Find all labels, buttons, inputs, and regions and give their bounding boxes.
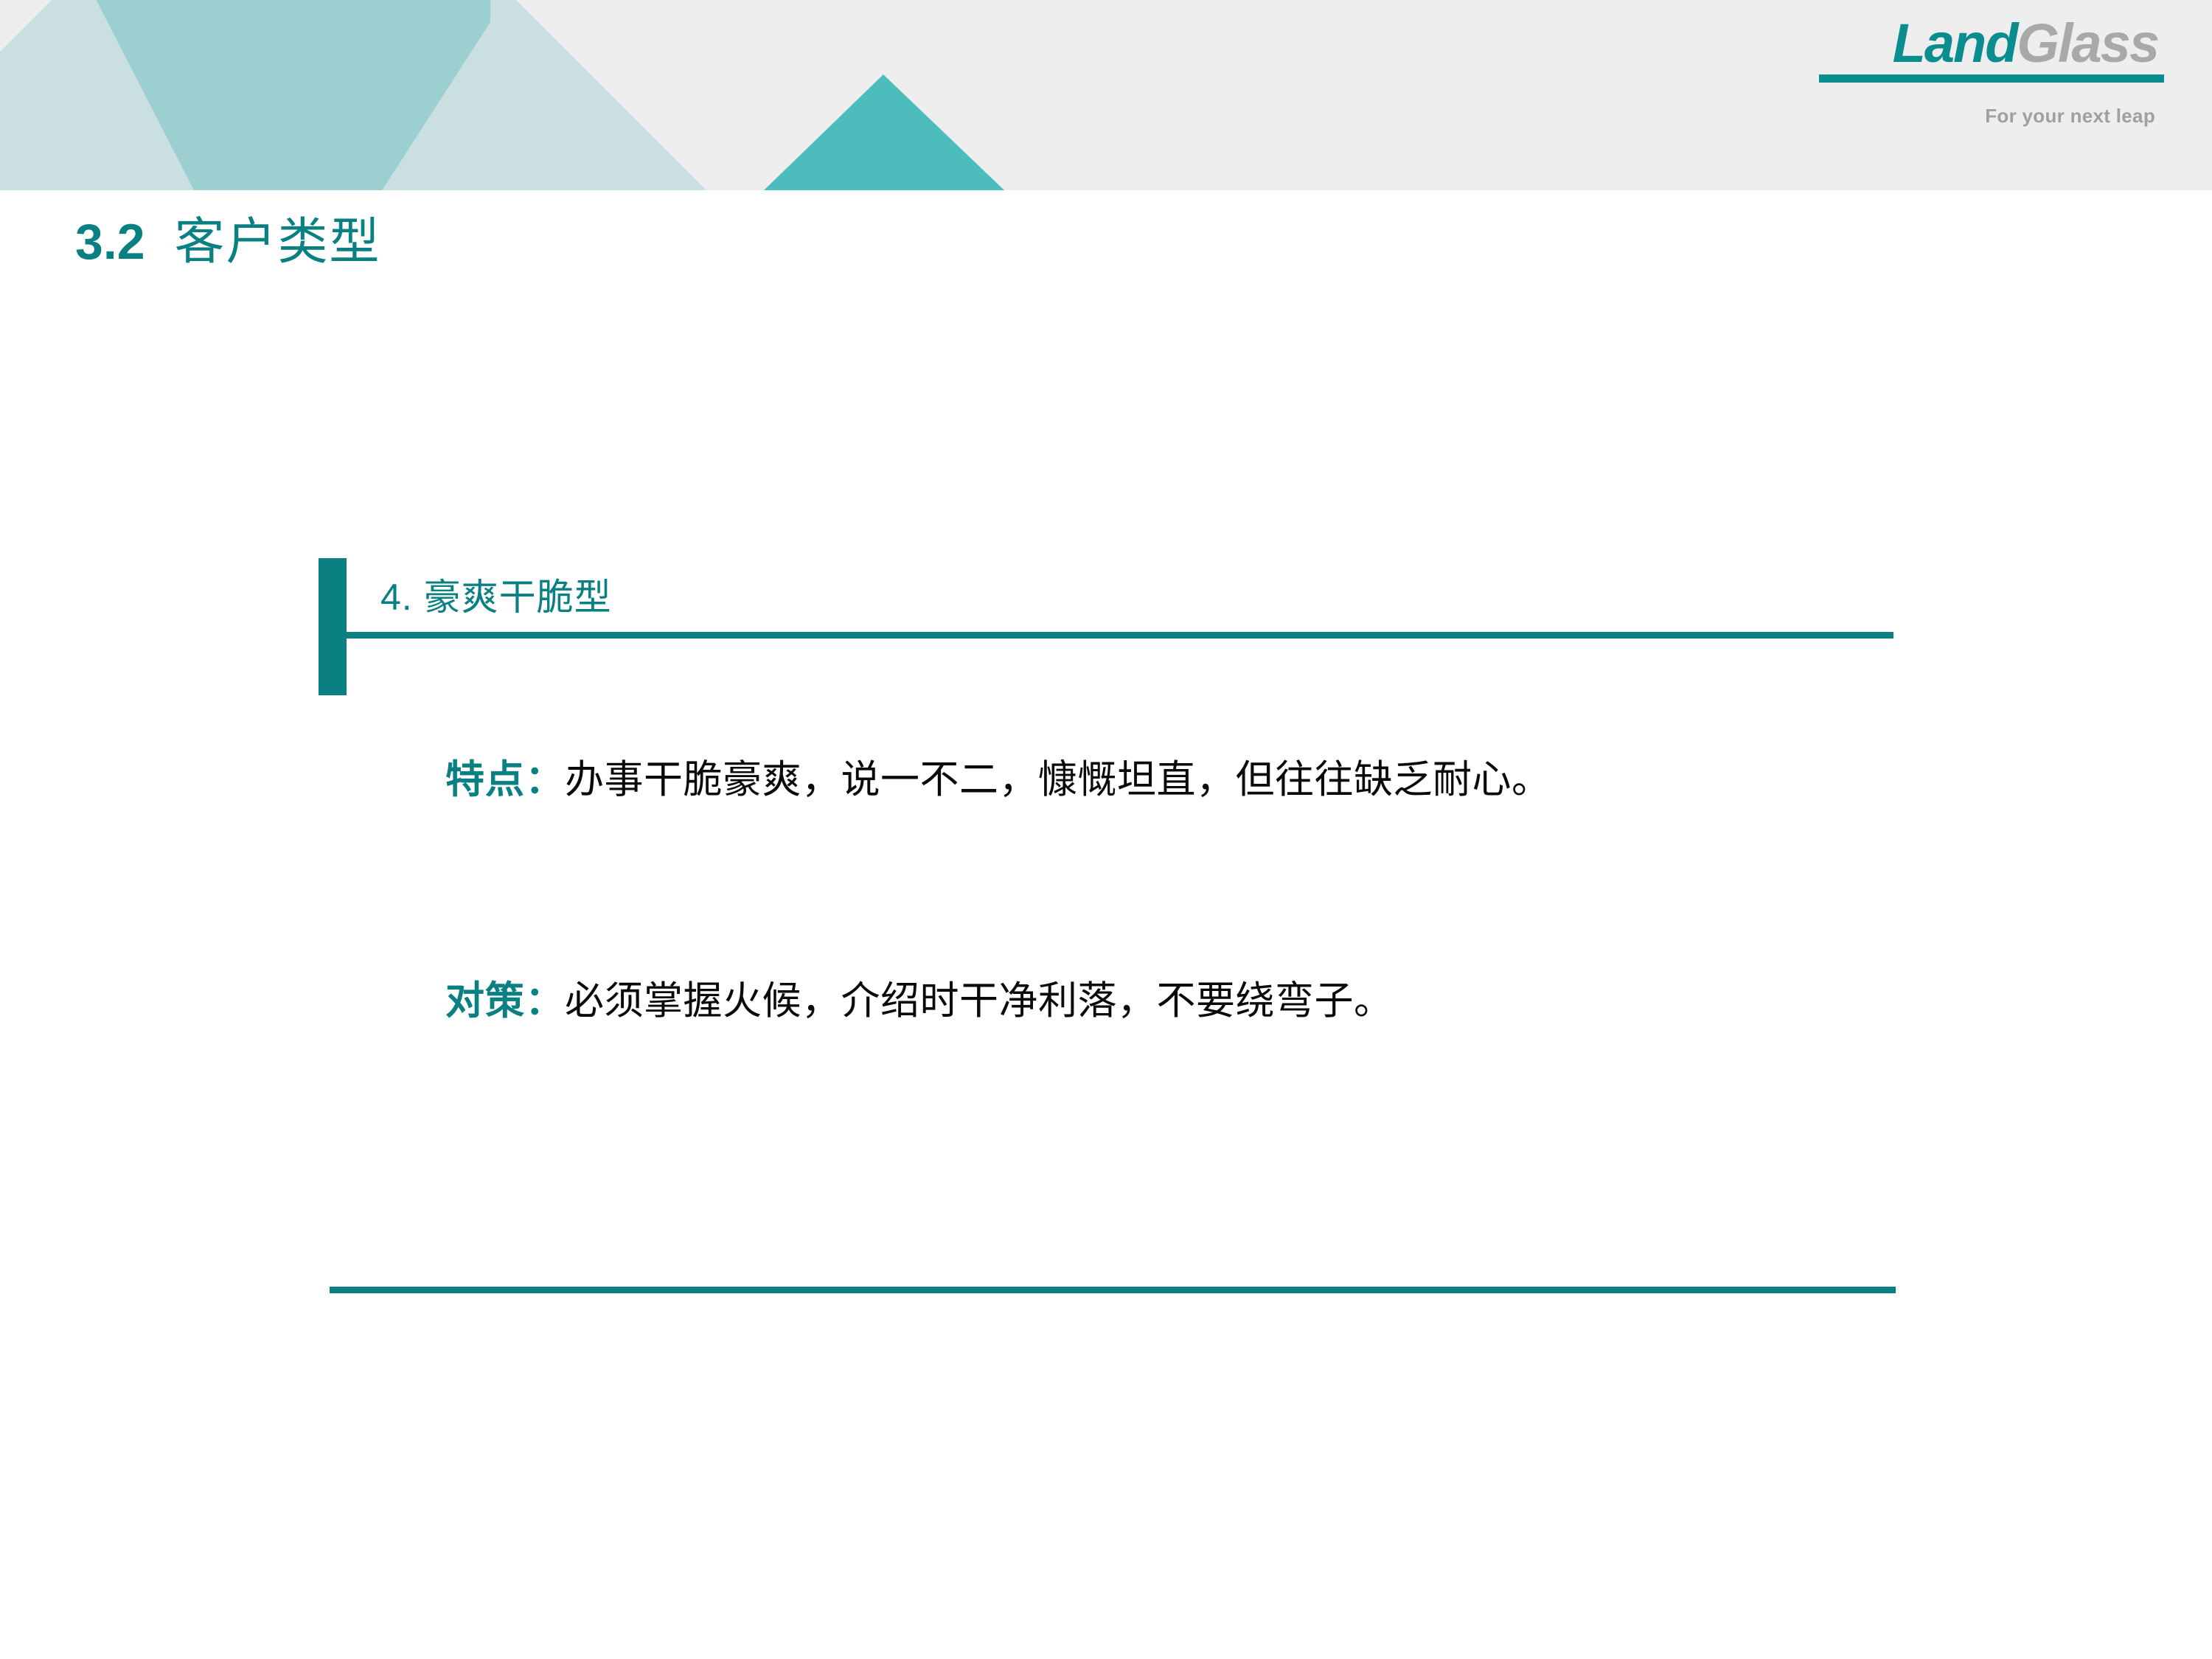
body-text-characteristics: 办事干脆豪爽，说一不二，慷慨坦直，但往往缺乏耐心。 bbox=[565, 758, 1551, 801]
logo-wordmark: LandGlass bbox=[1803, 16, 2164, 71]
body-label-characteristics: 特点： bbox=[445, 758, 565, 801]
bottom-horizontal-rule bbox=[330, 1287, 1896, 1293]
page-title: 3.2客户类型 bbox=[75, 212, 381, 273]
body-line-strategy: 对策：必须掌握火候，介绍时干净利落，不要绕弯子。 bbox=[445, 977, 1394, 1026]
body-text-strategy: 必须掌握火候，介绍时干净利落，不要绕弯子。 bbox=[565, 979, 1394, 1023]
body-line-characteristics: 特点：办事干脆豪爽，说一不二，慷慨坦直，但往往缺乏耐心。 bbox=[445, 756, 1551, 804]
deco-triangle-solid bbox=[764, 74, 1004, 190]
logo-underline-bar bbox=[1819, 74, 2164, 83]
logo-word-glass: Glass bbox=[2017, 13, 2158, 74]
page-title-text: 客户类型 bbox=[175, 214, 381, 270]
section-heading: 4. 豪爽干脆型 bbox=[380, 568, 612, 621]
brand-logo: LandGlass For your next leap bbox=[1803, 16, 2164, 128]
section-horizontal-rule bbox=[329, 632, 1893, 639]
body-label-strategy: 对策： bbox=[445, 979, 565, 1023]
section-accent-bar bbox=[319, 558, 347, 695]
page-title-number: 3.2 bbox=[75, 214, 145, 270]
logo-word-land: Land bbox=[1893, 13, 2017, 74]
logo-tagline: For your next leap bbox=[1803, 105, 2164, 128]
